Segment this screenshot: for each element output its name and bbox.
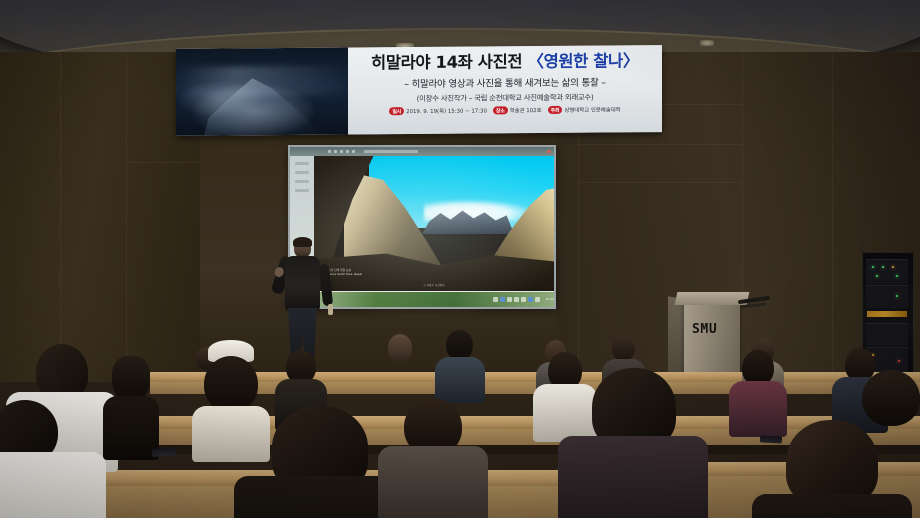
audience-member: [112, 356, 159, 460]
audience-member-with-cap: [208, 340, 270, 462]
banner-title-main: 히말라야 14좌 사진전: [371, 52, 527, 72]
banner-meta-row: 일시 2019. 9. 19(목) 15:30 ~ 17:30 장소 학술관 1…: [348, 105, 662, 115]
lecture-hall-photo: 히말라야 14좌 사진전 〈영원한 찰나〉 – 히말라야 영상과 사진을 통해 …: [0, 0, 920, 518]
audience-member-foreground: [862, 370, 920, 426]
meta-text: 상명대학교 인문예술대학: [564, 106, 620, 114]
slide-footer: ⓒ 이창수 사진작가: [314, 283, 554, 287]
ceiling-light-icon: [700, 40, 714, 46]
rack-display-strip: [867, 311, 907, 317]
audience-member-foreground: [404, 398, 488, 518]
projected-slide-photo: 안나푸르나 남벽 일출 능선 Annapurna South Face, Nep…: [314, 156, 554, 291]
audience-member: [742, 350, 787, 437]
banner-title: 히말라야 14좌 사진전 〈영원한 찰나〉: [348, 52, 662, 72]
projected-window-titlebar: [290, 147, 554, 156]
banner-text-panel: 히말라야 14좌 사진전 〈영원한 찰나〉 – 히말라야 영상과 사진을 통해 …: [348, 45, 662, 134]
banner-subtitle: – 히말라야 영상과 사진을 통해 새겨보는 삶의 통찰 –: [348, 74, 662, 90]
toolbar-icons: [328, 150, 355, 153]
taskbar-icon: [535, 297, 540, 302]
banner-title-highlight: 〈영원한 찰나〉: [527, 51, 638, 71]
presenter-hand: [273, 266, 285, 278]
close-icon: [547, 150, 551, 153]
microphone-icon: [328, 304, 333, 315]
taskbar-clock: 15:42: [545, 298, 554, 301]
taskbar-icon: [514, 297, 519, 302]
audience-member: [388, 334, 412, 361]
smartphone-on-desk: [152, 447, 176, 457]
presenter-lowered-arm: [319, 264, 333, 307]
presenter-hair: [293, 237, 312, 247]
audience-member: [446, 330, 485, 403]
banner-mountain-photo: [176, 48, 348, 136]
meta-badge: 주최: [548, 106, 563, 114]
taskbar-icon: [493, 297, 498, 302]
audience-member-foreground: [592, 368, 708, 518]
banner-meta-location: 장소 학술관 102호: [493, 106, 542, 114]
banner-meta-host: 주최 상명대학교 인문예술대학: [548, 106, 621, 115]
left-wall: [0, 52, 200, 382]
lectern-logo: SMU: [692, 322, 717, 337]
smartphone-on-desk: [760, 435, 782, 443]
taskbar-icon: [528, 297, 533, 302]
meta-badge: 장소: [493, 107, 508, 115]
taskbar-icon: [500, 297, 505, 302]
banner-credit: (이창수 사진작가 – 국립 순천대학교 사진예술학과 외래교수): [348, 91, 662, 104]
meta-text: 학술관 102호: [510, 106, 542, 114]
presenter-torso: [285, 256, 320, 310]
event-banner: 히말라야 14좌 사진전 〈영원한 찰나〉 – 히말라야 영상과 사진을 통해 …: [176, 45, 662, 136]
audience-member-foreground: [786, 420, 912, 518]
meta-badge: 일시: [389, 107, 404, 115]
audience-member: [548, 352, 597, 442]
taskbar-icon: [507, 297, 512, 302]
banner-meta-datetime: 일시 2019. 9. 19(목) 15:30 ~ 17:30: [389, 107, 487, 116]
address-bar: [364, 150, 418, 153]
meta-text: 2019. 9. 19(목) 15:30 ~ 17:30: [406, 107, 487, 116]
audience-member-foreground: [0, 400, 106, 518]
taskbar-icon: [521, 297, 526, 302]
